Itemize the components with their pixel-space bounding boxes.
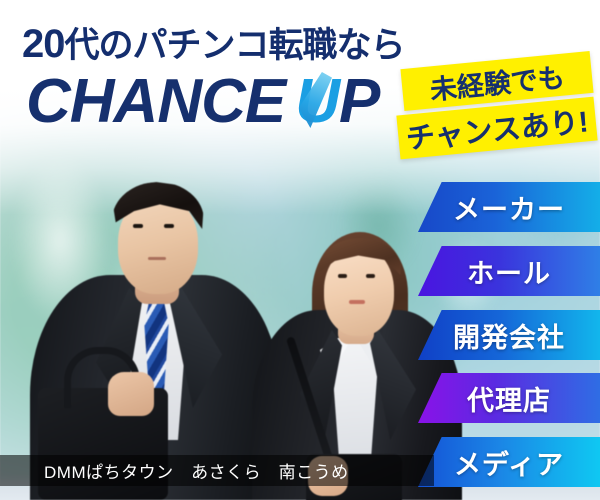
category-button-developer[interactable]: 開発会社 xyxy=(418,310,600,360)
category-list: メーカー ホール 開発会社 代理店 メディア xyxy=(0,0,600,500)
category-button-maker[interactable]: メーカー xyxy=(418,182,600,232)
category-button-media[interactable]: メディア xyxy=(418,437,600,487)
category-button-agency[interactable]: 代理店 xyxy=(418,373,600,423)
caption-bar: DMMぱちタウン あさくら 南こうめ xyxy=(0,455,434,486)
ad-banner[interactable]: 20代のパチンコ転職なら CHANCEUP 未経験でも チャンスあり! メーカー… xyxy=(0,0,600,500)
category-button-hall[interactable]: ホール xyxy=(418,246,600,296)
caption-text: DMMぱちタウン あさくら 南こうめ xyxy=(44,458,349,483)
